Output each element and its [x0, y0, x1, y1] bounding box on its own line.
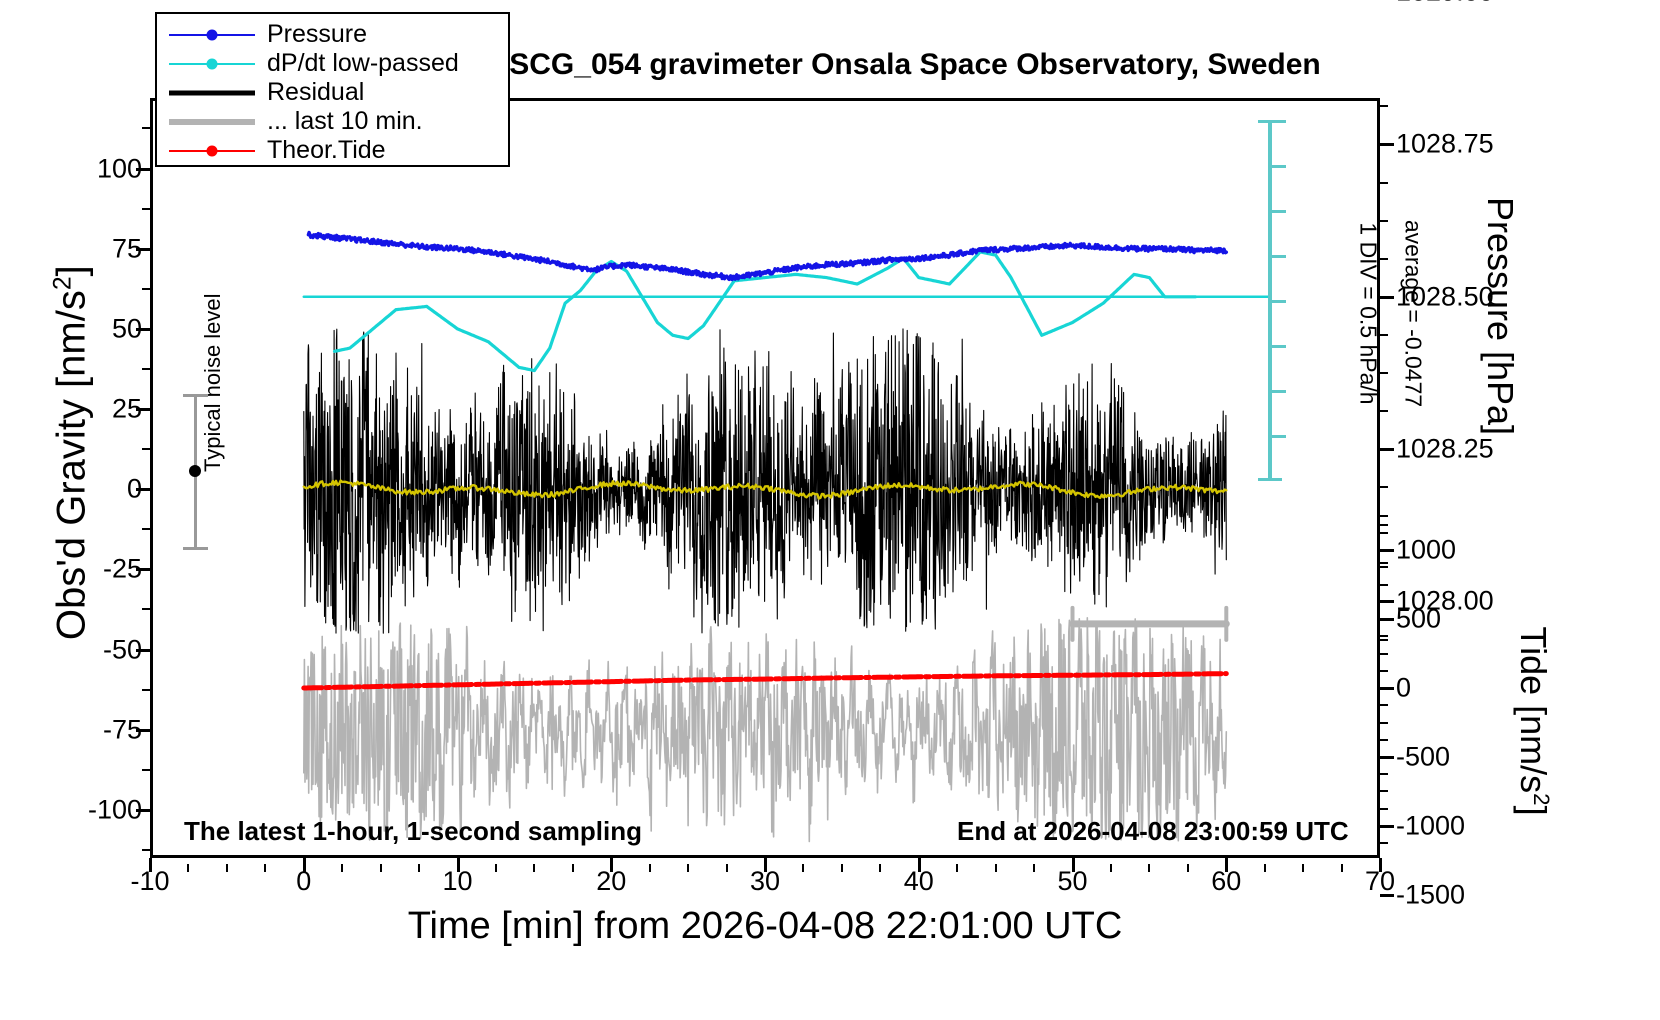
legend-label: Pressure: [267, 22, 367, 47]
y-tick-minor-pressure: [1380, 486, 1388, 488]
legend-item-last-10-min: ... last 10 min.: [157, 107, 508, 136]
y-tick-mark: [136, 488, 150, 491]
y-tick-minor-tide: [1380, 790, 1388, 792]
x-tick-minor: [1187, 864, 1189, 872]
x-tick-minor: [841, 864, 843, 872]
y-tick-minor-tide: [1380, 842, 1388, 844]
legend-swatch-residual: [169, 83, 255, 103]
scale-tick: [1268, 390, 1286, 393]
series-layer: [150, 98, 1380, 858]
y-tick-label: -100: [88, 794, 142, 825]
y-tick-minor: [142, 127, 150, 129]
y-tick-minor-tide: [1380, 670, 1388, 672]
legend-label: dP/dt low-passed: [267, 51, 459, 76]
x-tick-minor: [879, 864, 881, 872]
scale-cap-bottom: [1258, 478, 1282, 481]
y-tick-minor-pressure: [1380, 562, 1388, 564]
legend-item-pressure: Pressure: [157, 20, 508, 49]
scale-tick: [1268, 210, 1286, 213]
y-tick-minor: [142, 528, 150, 530]
y-tick-minor-tide: [1380, 739, 1388, 741]
y-tick-label-pressure: 1029.00: [1396, 0, 1494, 8]
x-tick-minor: [802, 864, 804, 872]
note-end-time: End at 2026-04-08 23:00:59 UTC: [957, 816, 1349, 847]
y-tick-minor: [142, 849, 150, 851]
y-tick-mark: [136, 729, 150, 732]
y-tick-minor: [142, 769, 150, 771]
x-tick-minor: [380, 864, 382, 872]
x-tick-minor: [341, 864, 343, 872]
legend-label: Theor.Tide: [267, 138, 386, 163]
y-tick-label-tide: 1000: [1396, 535, 1456, 566]
y-tick-mark: [136, 649, 150, 652]
series-residual: [304, 329, 1227, 633]
y-tick-mark-tide: [1380, 825, 1394, 828]
y-tick-mark-tide: [1380, 549, 1394, 552]
scale-tick: [1268, 165, 1286, 168]
legend-swatch-dpdt: [169, 54, 255, 74]
x-tick-minor: [187, 864, 189, 872]
scale-tick: [1268, 435, 1286, 438]
scale-div-label: 1 DIV = 0.5 hPa/h: [1355, 189, 1382, 439]
x-tick-minor: [1264, 864, 1266, 872]
y-tick-label-pressure: 1028.50: [1396, 281, 1494, 312]
y-tick-minor-tide: [1380, 808, 1388, 810]
x-tick-minor: [1302, 864, 1304, 872]
y-tick-mark-tide: [1380, 687, 1394, 690]
y-axis-right-tide-title: Tide [nm/s2]: [1512, 556, 1554, 886]
y-tick-minor: [142, 608, 150, 610]
typical-noise-marker: Typical noise level: [176, 390, 236, 555]
x-tick-minor: [687, 864, 689, 872]
x-tick-minor: [1341, 864, 1343, 872]
y-tick-minor: [142, 288, 150, 290]
legend-swatch-pressure: [169, 25, 255, 45]
noise-cap-bottom: [183, 547, 208, 550]
y-tick-minor-pressure: [1380, 258, 1388, 260]
y-tick-minor-tide: [1380, 635, 1388, 637]
y-tick-label-tide: 0: [1396, 673, 1411, 704]
y-tick-label-pressure: 1028.75: [1396, 129, 1494, 160]
y-tick-minor-tide: [1380, 704, 1388, 706]
y-tick-mark-pressure: [1380, 143, 1394, 146]
x-tick-mark: [610, 858, 613, 872]
scale-cap-top: [1258, 120, 1282, 123]
x-tick-mark: [149, 858, 152, 872]
y-tick-mark-tide: [1380, 756, 1394, 759]
x-tick-minor: [226, 864, 228, 872]
y-tick-minor-tide: [1380, 515, 1388, 517]
x-tick-minor: [995, 864, 997, 872]
y-tick-minor-pressure: [1380, 410, 1388, 412]
x-tick-minor: [649, 864, 651, 872]
y-axis-left-title: Obs'd Gravity [nm/s2]: [49, 123, 94, 783]
x-tick-mark: [1225, 858, 1228, 872]
legend-label: Residual: [267, 80, 364, 105]
y-tick-mark: [136, 568, 150, 571]
y-tick-label-tide: -1000: [1396, 810, 1465, 841]
y-tick-minor-pressure: [1380, 639, 1388, 641]
y-tick-minor-pressure: [1380, 105, 1388, 107]
scale-tick: [1268, 255, 1286, 258]
scale-tick: [1268, 345, 1286, 348]
y-tick-mark-tide: [1380, 618, 1394, 621]
y-tick-minor-pressure: [1380, 372, 1388, 374]
y-tick-minor: [142, 689, 150, 691]
y-tick-label-tide: -1500: [1396, 879, 1465, 910]
legend-item-theor-tide: Theor.Tide: [157, 136, 508, 165]
y-tick-label-pressure: 1028.25: [1396, 434, 1494, 465]
x-tick-mark: [1379, 858, 1382, 872]
noise-label: Typical noise level: [200, 262, 226, 472]
x-tick-mark: [1072, 858, 1075, 872]
scale-average-label: average = -0.0477: [1400, 189, 1427, 439]
scale-tick: [1268, 300, 1286, 303]
y-tick-minor-tide: [1380, 584, 1388, 586]
y-tick-minor-tide: [1380, 722, 1388, 724]
y-tick-minor-tide: [1380, 566, 1388, 568]
y-tick-minor-tide: [1380, 601, 1388, 603]
y-tick-minor-tide: [1380, 773, 1388, 775]
y-tick-minor-pressure: [1380, 182, 1388, 184]
series-pressure: [308, 233, 1226, 280]
y-tick-mark: [136, 248, 150, 251]
x-tick-minor: [533, 864, 535, 872]
y-tick-minor-tide: [1380, 532, 1388, 534]
y-tick-minor: [142, 448, 150, 450]
y-tick-mark: [136, 328, 150, 331]
x-tick-minor: [956, 864, 958, 872]
x-tick-minor: [1110, 864, 1112, 872]
y-tick-minor-pressure: [1380, 334, 1388, 336]
x-tick-minor: [1148, 864, 1150, 872]
x-tick-mark: [764, 858, 767, 872]
y-tick-mark: [136, 408, 150, 411]
x-tick-minor: [418, 864, 420, 872]
y-tick-label-tide: 500: [1396, 604, 1441, 635]
legend-swatch-last-10-min: [169, 112, 255, 132]
legend-label: ... last 10 min.: [267, 109, 423, 134]
y-tick-minor-pressure: [1380, 524, 1388, 526]
x-tick-minor: [726, 864, 728, 872]
x-tick-minor: [572, 864, 574, 872]
y-tick-minor: [142, 208, 150, 210]
y-tick-minor-tide: [1380, 653, 1388, 655]
legend-item-residual: Residual: [157, 78, 508, 107]
x-tick-minor: [1033, 864, 1035, 872]
y-tick-minor-pressure: [1380, 220, 1388, 222]
y-tick-mark: [136, 168, 150, 171]
x-tick-minor: [264, 864, 266, 872]
x-tick-mark: [918, 858, 921, 872]
y-tick-mark-pressure: [1380, 448, 1394, 451]
y-tick-mark-pressure: [1380, 296, 1394, 299]
y-tick-minor: [142, 368, 150, 370]
y-tick-label-tide: -500: [1396, 741, 1450, 772]
chart-title: SCG_054 gravimeter Onsala Space Observat…: [440, 48, 1390, 82]
x-tick-minor: [495, 864, 497, 872]
y-tick-mark: [136, 809, 150, 812]
legend-item-dpdt: dP/dt low-passed: [157, 49, 508, 78]
x-axis-title: Time [min] from 2026-04-08 22:01:00 UTC: [150, 905, 1380, 948]
legend: Pressure dP/dt low-passed Residual ... l…: [155, 12, 510, 167]
series-last-10-min: [304, 608, 1227, 842]
x-tick-mark: [303, 858, 306, 872]
x-tick-mark: [457, 858, 460, 872]
legend-swatch-theor-tide: [169, 141, 255, 161]
note-sampling: The latest 1-hour, 1-second sampling: [184, 816, 642, 847]
